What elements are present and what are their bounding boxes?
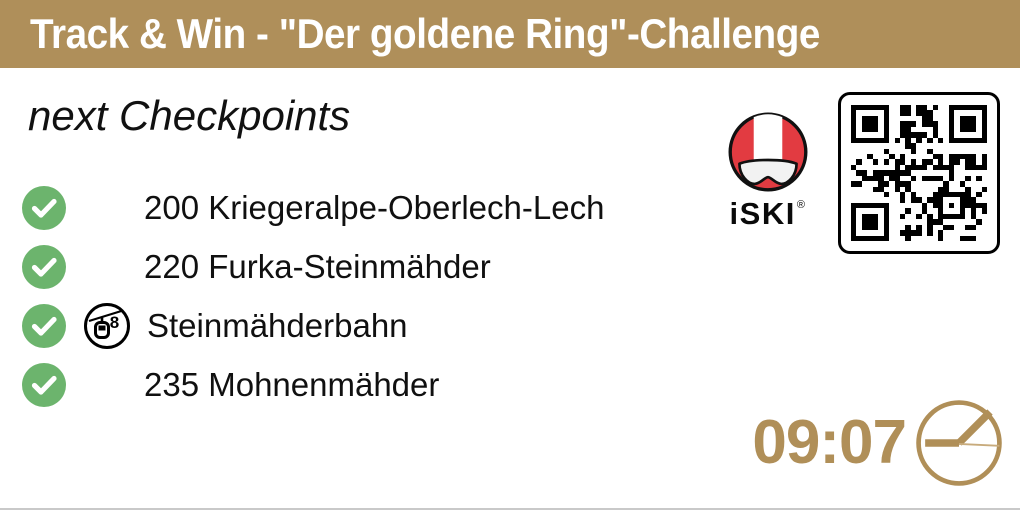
header-bar: Track & Win - "Der goldene Ring"-Challen… bbox=[0, 0, 1020, 68]
checkpoint-row[interactable]: 235 Mohnenmähder bbox=[22, 355, 702, 414]
checkpoint-label: Steinmähderbahn bbox=[147, 309, 408, 342]
check-circle-icon bbox=[22, 304, 66, 348]
svg-text:8: 8 bbox=[110, 313, 119, 332]
bottom-divider bbox=[0, 508, 1020, 510]
iski-helmet-icon bbox=[726, 110, 810, 194]
page-title: Track & Win - "Der goldene Ring"-Challen… bbox=[30, 12, 820, 56]
brand-block: iSKI ® bbox=[716, 92, 1000, 254]
check-circle-icon bbox=[22, 363, 66, 407]
blue-dot-icon bbox=[86, 364, 128, 406]
checkpoint-list: 200 Kriegeralpe-Oberlech-Lech 220 Furka-… bbox=[22, 178, 702, 414]
blue-dot-icon bbox=[86, 187, 128, 229]
checkpoint-label: 220 Furka-Steinmähder bbox=[144, 250, 491, 283]
clock-block: 09:07 bbox=[752, 396, 1006, 490]
checkpoint-label: 200 Kriegeralpe-Oberlech-Lech bbox=[144, 191, 604, 224]
checkpoint-label: 235 Mohnenmähder bbox=[144, 368, 439, 401]
blue-dot-icon bbox=[86, 246, 128, 288]
checkpoint-row[interactable]: 8 Steinmähderbahn bbox=[22, 296, 702, 355]
section-heading: next Checkpoints bbox=[28, 92, 350, 140]
checkpoint-row[interactable]: 200 Kriegeralpe-Oberlech-Lech bbox=[22, 178, 702, 237]
registered-mark: ® bbox=[797, 200, 807, 211]
gondola-lift-icon: 8 bbox=[83, 302, 131, 350]
checkpoint-row[interactable]: 220 Furka-Steinmähder bbox=[22, 237, 702, 296]
iski-logo: iSKI ® bbox=[716, 110, 820, 229]
iski-wordmark: iSKI ® bbox=[730, 198, 807, 229]
check-circle-icon bbox=[22, 186, 66, 230]
current-time: 09:07 bbox=[752, 412, 906, 474]
check-circle-icon bbox=[22, 245, 66, 289]
qr-code-icon[interactable] bbox=[838, 92, 1000, 254]
analog-clock-icon bbox=[912, 396, 1006, 490]
track-and-win-panel: Track & Win - "Der goldene Ring"-Challen… bbox=[0, 0, 1020, 512]
iski-wordmark-text: iSKI bbox=[730, 198, 796, 229]
